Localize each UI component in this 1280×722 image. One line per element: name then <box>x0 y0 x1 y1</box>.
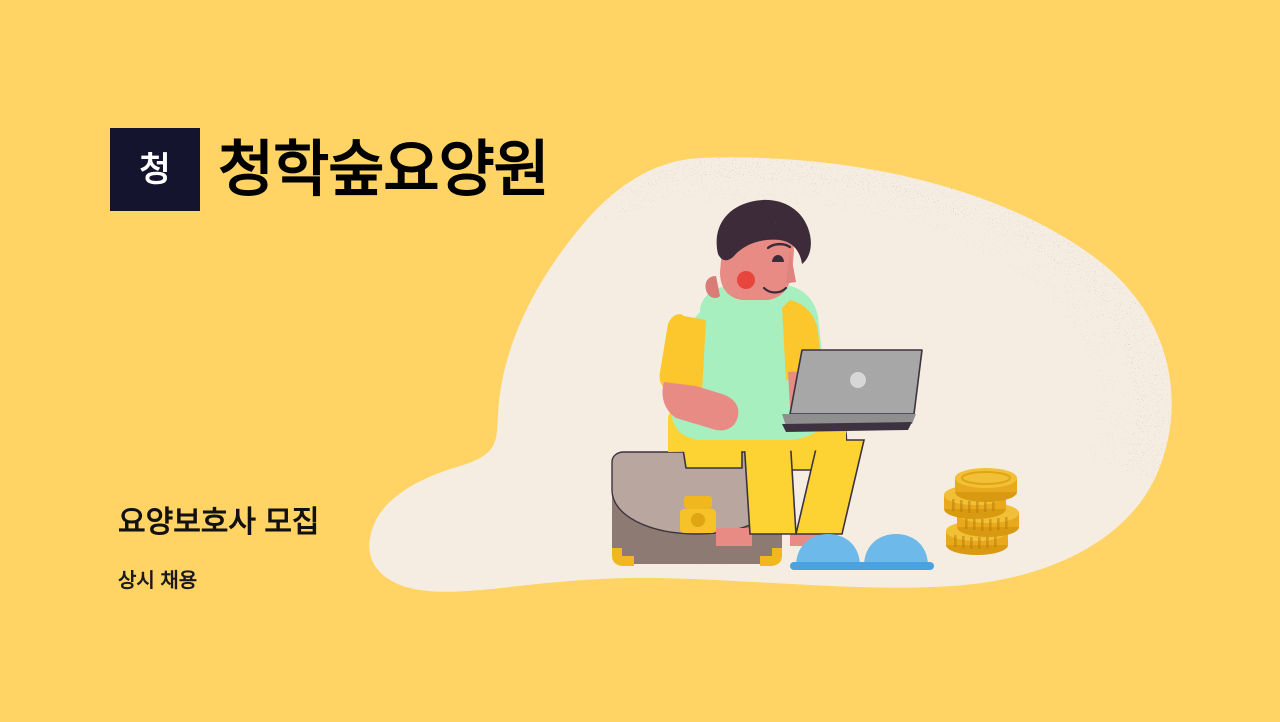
briefcase <box>612 432 782 566</box>
brand-header: 청 청학숲요양원 <box>110 128 549 211</box>
job-copy-block: 요양보호사 모집 상시 채용 <box>118 505 320 593</box>
laptop <box>782 350 926 432</box>
blob-backdrop-layer <box>0 0 1280 722</box>
job-subtitle: 상시 채용 <box>118 569 320 593</box>
legs-pants <box>668 400 864 546</box>
blue-shoes <box>790 534 934 570</box>
coin-stack <box>944 468 1019 555</box>
logo-badge-text: 청 <box>139 153 170 187</box>
job-title: 요양보호사 모집 <box>118 505 320 541</box>
person-torso <box>660 284 861 446</box>
organic-blob <box>369 157 1171 591</box>
company-name: 청학숲요양원 <box>218 139 549 200</box>
logo-badge: 청 <box>110 128 200 211</box>
recruitment-banner: 청 청학숲요양원 요양보호사 모집 상시 채용 <box>0 0 1280 722</box>
person-head <box>705 200 810 300</box>
illustration <box>0 0 1280 722</box>
